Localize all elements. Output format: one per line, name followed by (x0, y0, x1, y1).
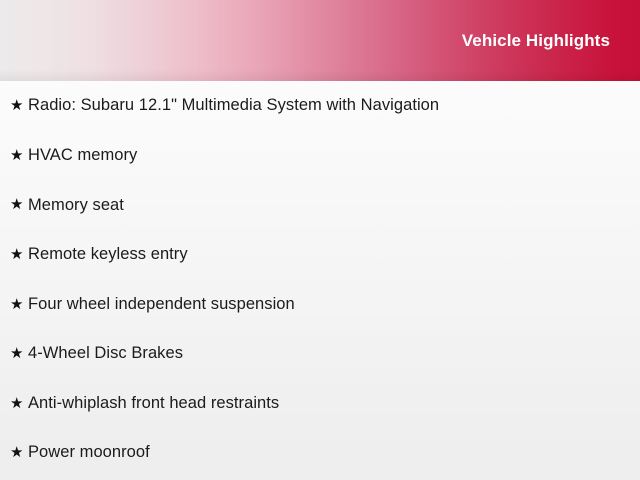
list-item-label: Radio: Subaru 12.1" Multimedia System wi… (28, 96, 640, 115)
list-item-label: Power moonroof (28, 443, 640, 462)
list-item: ★ 4-Wheel Disc Brakes (0, 329, 640, 379)
star-bullet-icon: ★ (10, 297, 28, 312)
vehicle-highlights-panel: Vehicle Highlights ★ Radio: Subaru 12.1"… (0, 0, 640, 480)
list-item: ★ Remote keyless entry (0, 230, 640, 280)
list-item-label: Four wheel independent suspension (28, 295, 640, 314)
list-item: ★ Memory seat (0, 180, 640, 230)
list-item-label: Memory seat (28, 196, 640, 215)
header-banner: Vehicle Highlights (0, 0, 640, 81)
page-title: Vehicle Highlights (462, 32, 610, 49)
list-item-label: Remote keyless entry (28, 245, 640, 264)
star-bullet-icon: ★ (10, 396, 28, 411)
star-bullet-icon: ★ (10, 148, 28, 163)
list-item: ★ Radio: Subaru 12.1" Multimedia System … (0, 81, 640, 131)
list-item-label: 4-Wheel Disc Brakes (28, 344, 640, 363)
list-item: ★ Four wheel independent suspension (0, 279, 640, 329)
list-item: ★ Power moonroof (0, 428, 640, 478)
list-item-label: Anti-whiplash front head restraints (28, 394, 640, 413)
vehicle-highlights-list: ★ Radio: Subaru 12.1" Multimedia System … (0, 81, 640, 480)
list-item-label: HVAC memory (28, 146, 640, 165)
star-bullet-icon: ★ (10, 247, 28, 262)
list-item: ★ HVAC memory (0, 131, 640, 181)
list-item: ★ Anti-whiplash front head restraints (0, 379, 640, 429)
star-bullet-icon: ★ (10, 98, 28, 113)
star-bullet-icon: ★ (10, 346, 28, 361)
star-bullet-icon: ★ (10, 197, 28, 212)
star-bullet-icon: ★ (10, 445, 28, 460)
